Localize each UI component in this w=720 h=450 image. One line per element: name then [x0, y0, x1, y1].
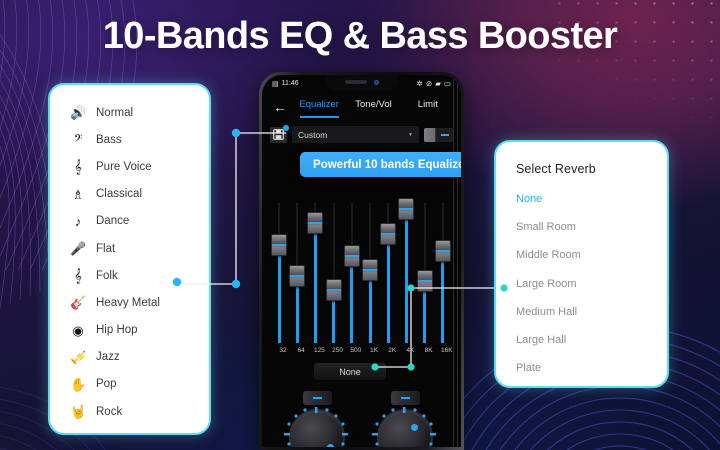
- eq-band-fill: [369, 270, 372, 343]
- preset-item[interactable]: 🔊Normal: [50, 99, 209, 126]
- reverb-selection-panel: Select Reverb NoneSmall RoomMiddle RoomL…: [494, 140, 669, 388]
- eq-band-fill: [441, 251, 444, 343]
- battery-icon: ▭: [444, 79, 451, 88]
- screen-rail-left: [453, 75, 454, 447]
- status-bar-time: 11:46: [282, 80, 299, 87]
- status-bar: ▤ 11:46 ✲ ⊘ ▰ ▭: [262, 75, 461, 92]
- eq-band-fill: [314, 223, 317, 343]
- eq-band-slider[interactable]: [366, 203, 374, 343]
- toggle-indicator: [441, 134, 449, 136]
- frequency-label-row: 32641252505001K2K4K8K16K: [262, 347, 461, 359]
- equalizer-slider-area: [262, 183, 461, 343]
- phone-mockup: ▤ 11:46 ✲ ⊘ ▰ ▭ ← Equalizer Tone/Vol Lim…: [259, 72, 464, 450]
- preset-dropdown[interactable]: Custom ▼: [292, 126, 419, 143]
- eq-band-fill: [350, 256, 353, 343]
- reverb-item[interactable]: Small Room: [496, 213, 667, 241]
- eq-band-slider[interactable]: [439, 203, 447, 343]
- reverb-item[interactable]: Large Hall: [496, 326, 667, 354]
- equalizer-bands: [262, 183, 461, 343]
- dnd-icon: ⊘: [426, 79, 432, 88]
- eq-band-thumb[interactable]: [435, 240, 451, 262]
- preset-list: 🔊Normal𝄢Bass𝄞Pure Voice♗Classical♪Dance🎤…: [50, 85, 209, 425]
- sim-icon: ▤: [272, 80, 279, 88]
- horns-icon: 🤘: [70, 405, 86, 418]
- tab-equalizer[interactable]: Equalizer: [292, 99, 346, 115]
- preset-item-label: Folk: [96, 270, 118, 282]
- reverb-select-button[interactable]: None: [314, 363, 386, 380]
- bass-boost-toggle[interactable]: [303, 391, 332, 405]
- frequency-label: 125: [310, 347, 328, 354]
- frequency-label: 500: [347, 347, 365, 354]
- toggle-indicator: [401, 397, 410, 399]
- eq-band-slider[interactable]: [348, 203, 356, 343]
- eq-band-fill: [405, 209, 408, 343]
- eq-band-slider[interactable]: [402, 203, 410, 343]
- eq-band-thumb[interactable]: [344, 245, 360, 267]
- eq-band-thumb[interactable]: [417, 270, 433, 292]
- tab-limit[interactable]: Limit: [401, 99, 455, 115]
- reverb-item[interactable]: None: [496, 185, 667, 213]
- front-camera-icon: [374, 80, 379, 85]
- preset-item-label: Classical: [96, 188, 142, 200]
- bass-boost-knob-group: [280, 391, 354, 447]
- frequency-label: 32: [274, 347, 292, 354]
- preset-item[interactable]: 𝄢Bass: [50, 126, 209, 153]
- save-badge-dot: [283, 125, 289, 131]
- frequency-label: 8K: [420, 347, 438, 354]
- eq-band-thumb[interactable]: [289, 265, 305, 287]
- preset-item[interactable]: ♪Dance: [50, 208, 209, 235]
- tooltip-text: Powerful 10 bands Equalizer: [313, 159, 461, 171]
- eq-band-slider[interactable]: [275, 203, 283, 343]
- bass-clef-icon: 𝄢: [70, 133, 86, 146]
- treble-clef-icon: 𝄞: [70, 160, 86, 173]
- frequency-label: 4K: [401, 347, 419, 354]
- tab-tone-vol[interactable]: Tone/Vol: [346, 99, 400, 115]
- eq-band-thumb[interactable]: [398, 198, 414, 220]
- phone-notch: [326, 75, 398, 91]
- eq-band-thumb[interactable]: [326, 279, 342, 301]
- eighth-note-icon: ♪: [70, 215, 86, 228]
- save-icon-glyph: [273, 129, 284, 140]
- equalizer-preset-panel: 🔊Normal𝄢Bass𝄞Pure Voice♗Classical♪Dance🎤…: [48, 83, 211, 435]
- virtualizer-knob-ticks: [368, 405, 442, 447]
- preset-item[interactable]: 🎸Heavy Metal: [50, 289, 209, 316]
- preset-item[interactable]: 𝄞Pure Voice: [50, 153, 209, 180]
- eq-band-thumb[interactable]: [271, 234, 287, 256]
- screen-rail-right: [457, 75, 458, 447]
- equalizer-power-toggle[interactable]: [424, 128, 453, 142]
- frequency-label: 250: [329, 347, 347, 354]
- save-icon[interactable]: [270, 127, 287, 143]
- speaker-icon: 🔊: [70, 106, 86, 119]
- bluetooth-icon: ✲: [417, 79, 423, 88]
- preset-item-label: Heavy Metal: [96, 297, 160, 309]
- phone-screen: ▤ 11:46 ✲ ⊘ ▰ ▭ ← Equalizer Tone/Vol Lim…: [262, 75, 461, 447]
- reverb-list: NoneSmall RoomMiddle RoomLarge RoomMediu…: [496, 176, 667, 382]
- frequency-label: 1K: [365, 347, 383, 354]
- reverb-item[interactable]: Plate: [496, 354, 667, 382]
- chevron-down-icon: ▼: [408, 132, 413, 138]
- preset-dropdown-value: Custom: [298, 130, 327, 140]
- preset-item-label: Dance: [96, 215, 129, 227]
- eq-band-thumb[interactable]: [362, 259, 378, 281]
- preset-item[interactable]: ◉Hip Hop: [50, 317, 209, 344]
- back-arrow-icon[interactable]: ←: [268, 99, 292, 115]
- preset-item-label: Hip Hop: [96, 324, 138, 336]
- preset-item[interactable]: 🤘Rock: [50, 398, 209, 425]
- preset-item[interactable]: 🎺Jazz: [50, 344, 209, 371]
- preset-item[interactable]: ♗Classical: [50, 181, 209, 208]
- knob-area: [262, 387, 461, 447]
- earpiece-speaker: [345, 80, 367, 84]
- preset-item-label: Jazz: [96, 351, 120, 363]
- preset-item-label: Pop: [96, 378, 116, 390]
- microphone-icon: 🎤: [70, 242, 86, 255]
- page-title: 10-Bands EQ & Bass Booster: [0, 10, 720, 62]
- eq-band-slider[interactable]: [330, 203, 338, 343]
- wifi-icon: ▰: [435, 79, 441, 88]
- frequency-label: 2K: [383, 347, 401, 354]
- preset-item-label: Pure Voice: [96, 161, 152, 173]
- eq-band-slider[interactable]: [293, 203, 301, 343]
- virtualizer-knob-group: [368, 391, 442, 447]
- virtualizer-toggle[interactable]: [391, 391, 420, 405]
- tooltip-callout: Powerful 10 bands Equalizer: [300, 152, 461, 177]
- eq-band-slider[interactable]: [421, 203, 429, 343]
- eq-band-fill: [278, 245, 281, 343]
- eq-band-slider[interactable]: [311, 203, 319, 343]
- preset-item-label: Normal: [96, 107, 133, 119]
- reverb-item[interactable]: Medium Hall: [496, 298, 667, 326]
- preset-item[interactable]: ✋Pop: [50, 371, 209, 398]
- harp-icon: ♗: [70, 188, 86, 201]
- reverb-item[interactable]: Middle Room: [496, 241, 667, 269]
- preset-item-label: Flat: [96, 243, 115, 255]
- preset-item-label: Bass: [96, 134, 122, 146]
- tab-bar: ← Equalizer Tone/Vol Limit: [262, 92, 461, 122]
- hand-icon: ✋: [70, 378, 86, 391]
- eq-band-slider[interactable]: [384, 203, 392, 343]
- vinyl-icon: ◉: [70, 324, 86, 337]
- toggle-indicator: [313, 397, 322, 399]
- eq-band-fill: [387, 234, 390, 343]
- preset-item[interactable]: 𝄞Folk: [50, 262, 209, 289]
- preset-bar: Custom ▼: [262, 124, 461, 145]
- guitar-icon: 🎸: [70, 296, 86, 309]
- violin-icon: 𝄞: [70, 269, 86, 282]
- frequency-label: 64: [292, 347, 310, 354]
- reverb-panel-title: Select Reverb: [496, 142, 667, 176]
- eq-band-thumb[interactable]: [380, 223, 396, 245]
- trumpet-icon: 🎺: [70, 351, 86, 364]
- preset-item-label: Rock: [96, 406, 122, 418]
- bass-boost-knob-ticks: [280, 405, 354, 447]
- reverb-item[interactable]: Large Room: [496, 270, 667, 298]
- preset-item[interactable]: 🎤Flat: [50, 235, 209, 262]
- eq-band-thumb[interactable]: [307, 212, 323, 234]
